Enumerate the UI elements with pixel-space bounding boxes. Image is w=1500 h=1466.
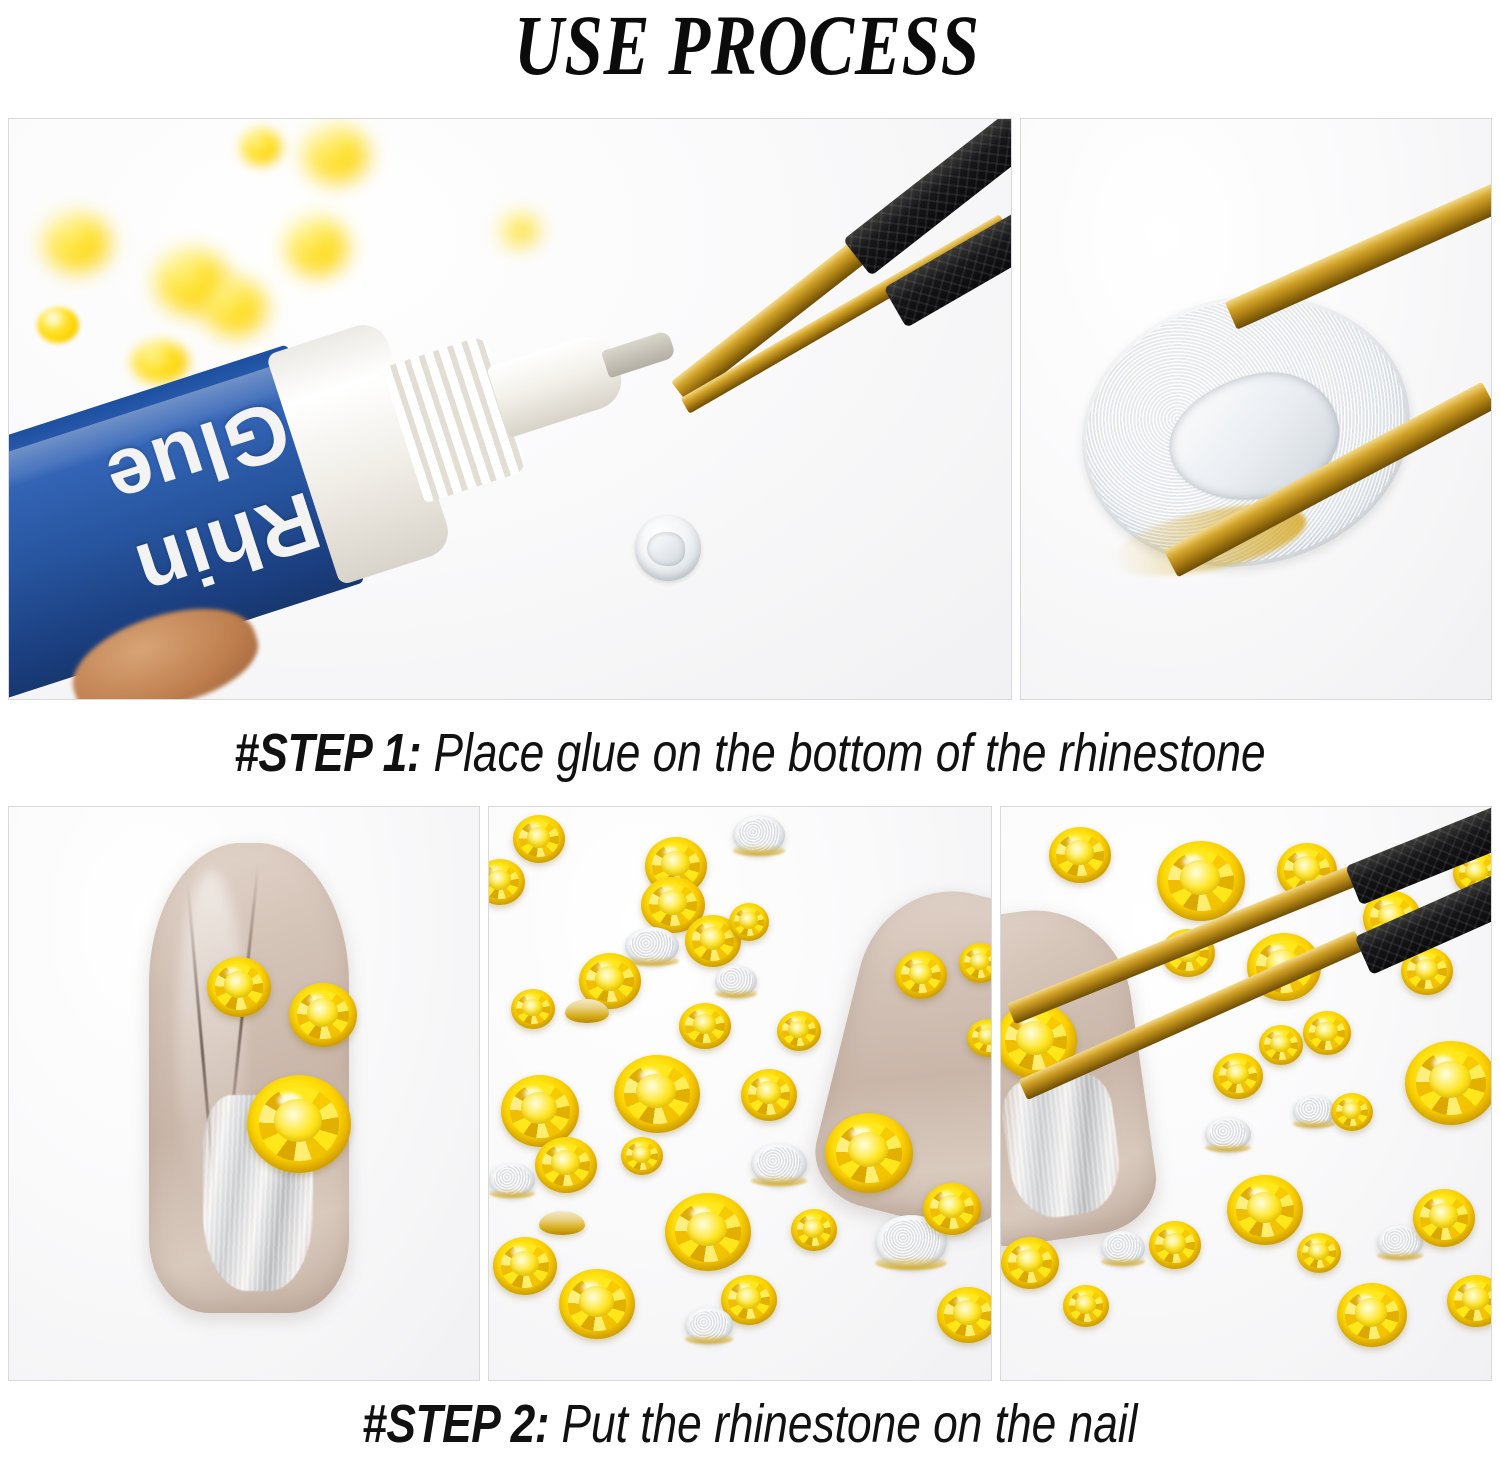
photo-backdrop: [489, 807, 991, 1380]
bokeh-stone: [287, 219, 347, 275]
bokeh-stone: [205, 280, 265, 335]
finished-nail-photo: [8, 806, 480, 1381]
rhinestone: [621, 1137, 663, 1175]
nail-rhinestone: [207, 957, 271, 1017]
rhinestone: [493, 1237, 557, 1295]
rhinestone: [679, 1003, 731, 1049]
tweezer-arm-upper: [1225, 168, 1492, 330]
photo-backdrop: [1021, 119, 1491, 699]
rhinestone-flat-back: [733, 815, 785, 855]
rhinestone-flat-back: [489, 1163, 535, 1197]
rhinestone: [665, 1193, 751, 1271]
page-title: USE PROCESS: [514, 2, 980, 88]
step-1-caption: #STEP 1: Place glue on the bottom of the…: [0, 700, 1500, 806]
rhinestone: [895, 951, 947, 999]
rhinestone: [488, 859, 525, 905]
bokeh-stone: [503, 215, 537, 245]
gold-tweezers: [1021, 119, 1492, 694]
rhinestone-flat-back: [751, 1143, 807, 1185]
step-1-photo-row: Rhin Glue: [0, 118, 1500, 700]
photo-backdrop: Rhin Glue: [9, 119, 1011, 699]
glue-closeup-photo: [1020, 118, 1492, 700]
rhinestone-side-view: [565, 999, 609, 1023]
tweezers-placing-photo: [1000, 806, 1492, 1381]
bottle-nozzle: [486, 329, 629, 438]
rhinestone-side-view: [539, 1211, 585, 1235]
rhinestone: [825, 1113, 913, 1193]
step-1-label: #STEP 1:: [234, 723, 421, 783]
step-2-photo-row: [0, 806, 1500, 1381]
nail-rhinestone: [289, 983, 357, 1047]
bokeh-stone: [132, 341, 188, 383]
tweezer-arm-upper: [1007, 865, 1358, 1024]
rhinestone-flat-back: [625, 927, 679, 965]
step-2-text: Put the rhinestone on the nail: [549, 1394, 1137, 1454]
rhinestone: [791, 1209, 837, 1251]
glue-application-photo: Rhin Glue: [8, 118, 1012, 700]
bokeh-stone: [45, 215, 109, 271]
tweezer-arm-lower: [1019, 930, 1364, 1100]
step-2-label: #STEP 2:: [362, 1394, 549, 1454]
photo-backdrop: [9, 807, 479, 1380]
rhinestone: [513, 815, 565, 863]
gold-tweezers: [649, 118, 1012, 569]
rhinestone: [777, 1011, 821, 1051]
photo-backdrop: [1001, 807, 1491, 1380]
nail-rhinestone: [247, 1075, 351, 1173]
gold-tweezers: [1001, 807, 1492, 1381]
step-2-caption: #STEP 2: Put the rhinestone on the nail: [0, 1381, 1500, 1466]
step-1-text: Place glue on the bottom of the rhinesto…: [421, 723, 1265, 783]
glue-bottle: Rhin Glue: [8, 279, 564, 700]
scattered-rhinestones-photo: [488, 806, 992, 1381]
rhinestone: [937, 1287, 992, 1343]
rhinestone: [535, 1137, 597, 1193]
tweezer-arm-lower: [1164, 382, 1492, 577]
bokeh-stone: [241, 129, 281, 165]
rhinestone: [614, 1055, 700, 1133]
page-header: USE PROCESS: [0, 0, 1500, 118]
rhinestone: [923, 1183, 981, 1235]
bokeh-stone: [305, 128, 367, 182]
bokeh-stone: [37, 307, 79, 343]
rhinestone: [729, 903, 769, 941]
rhinestone-flat-back: [685, 1307, 733, 1343]
rhinestone: [559, 1269, 635, 1339]
rhinestone: [511, 989, 555, 1029]
rhinestone: [741, 1069, 797, 1121]
rhinestone-flat-back: [715, 965, 757, 997]
